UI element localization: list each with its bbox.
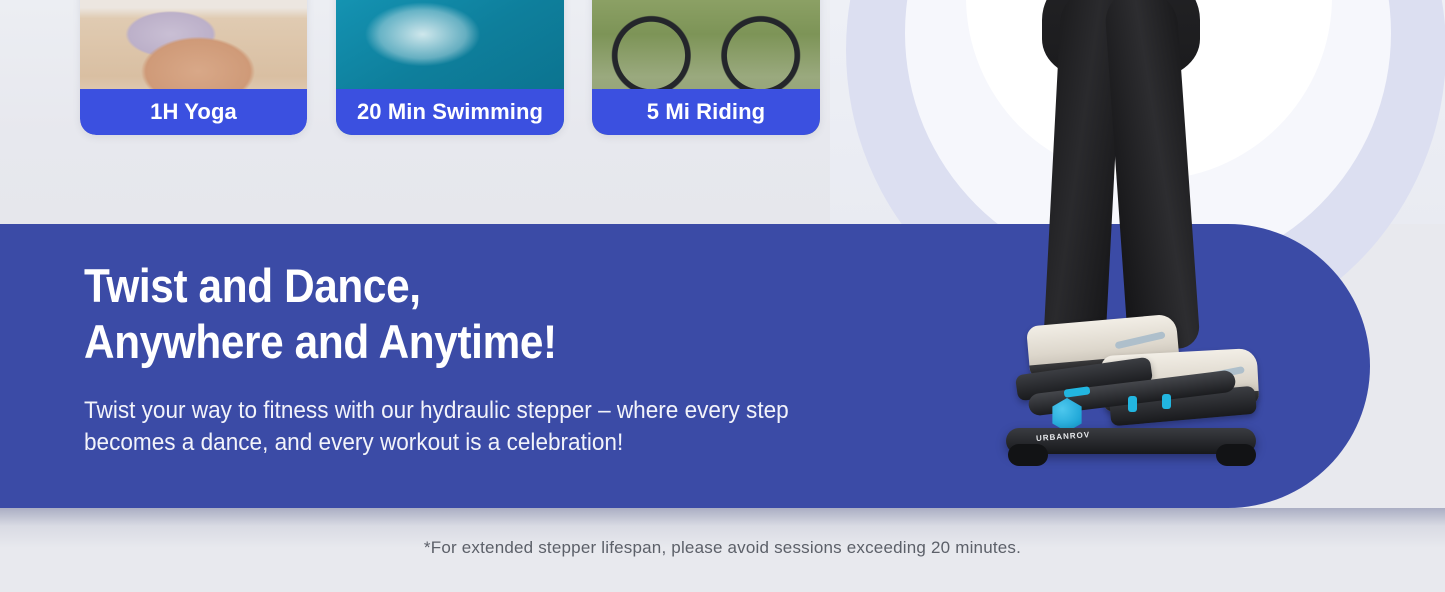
stepper-accent-trim xyxy=(1162,394,1171,409)
product-hero-photo: URBANROV xyxy=(830,0,1445,520)
activity-card-yoga[interactable]: 1H Yoga xyxy=(80,0,307,135)
promo-page: 1H Yoga 20 Min Swimming 5 Mi Riding Twis… xyxy=(0,0,1445,592)
stepper-foot-left xyxy=(1008,444,1048,466)
activity-card-swimming[interactable]: 20 Min Swimming xyxy=(336,0,564,135)
shoe-stripe xyxy=(1114,331,1165,349)
activity-card-riding[interactable]: 5 Mi Riding xyxy=(592,0,820,135)
banner-subtext: Twist your way to fitness with our hydra… xyxy=(84,395,930,458)
stepper-foot-right xyxy=(1216,444,1256,466)
activity-card-label-bar: 20 Min Swimming xyxy=(336,89,564,135)
activity-card-label-bar: 1H Yoga xyxy=(80,89,307,135)
activity-card-label-riding: 5 Mi Riding xyxy=(647,99,765,125)
hydraulic-stepper-product: URBANROV xyxy=(1002,352,1264,474)
activity-card-label-yoga: 1H Yoga xyxy=(150,99,237,125)
footnote-disclaimer: *For extended stepper lifespan, please a… xyxy=(0,538,1445,558)
banner-headline: Twist and Dance, Anywhere and Anytime! xyxy=(84,258,822,371)
activity-card-list: 1H Yoga 20 Min Swimming 5 Mi Riding xyxy=(0,0,900,135)
activity-card-label-swimming: 20 Min Swimming xyxy=(357,99,543,125)
activity-card-label-bar: 5 Mi Riding xyxy=(592,89,820,135)
stepper-accent-trim xyxy=(1128,396,1137,412)
